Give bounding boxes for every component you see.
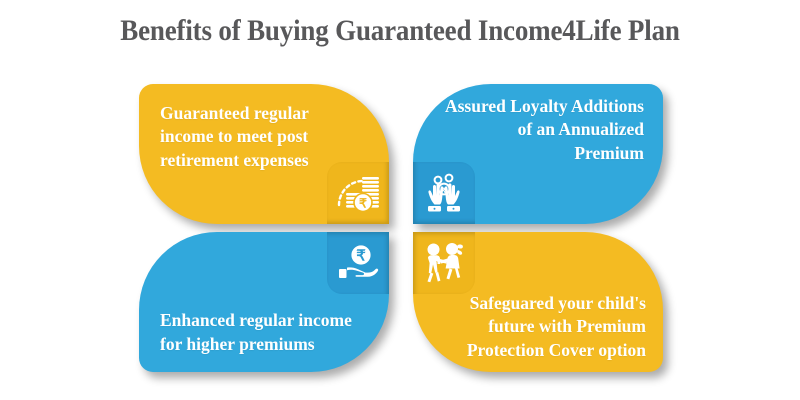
- benefit-card-safeguard-child-future[interactable]: Safeguared your child's future with Prem…: [413, 232, 663, 372]
- svg-text:₹: ₹: [356, 248, 366, 265]
- hand-holding-rupee-coin-icon: ₹: [327, 232, 389, 294]
- hands-holding-coins-icon: ₹: [413, 162, 475, 224]
- benefits-card-grid: Guaranteed regular income to meet post r…: [139, 84, 663, 372]
- card-text-guaranteed-regular-income: Guaranteed regular income to meet post r…: [160, 102, 355, 172]
- page-title: Benefits of Buying Guaranteed Income4Lif…: [40, 14, 760, 48]
- two-children-icon: [413, 232, 475, 294]
- benefit-card-assured-loyalty-additions[interactable]: Assured Loyalty Additions of an Annualiz…: [413, 84, 663, 224]
- coins-stack-rupee-icon: ₹: [327, 162, 389, 224]
- infographic-page: Benefits of Buying Guaranteed Income4Lif…: [0, 0, 800, 400]
- card-text-safeguard-child-future: Safeguared your child's future with Prem…: [441, 292, 646, 362]
- card-text-assured-loyalty-additions: Assured Loyalty Additions of an Annualiz…: [444, 95, 644, 165]
- card-text-enhanced-regular-income: Enhanced regular income for higher premi…: [160, 309, 365, 356]
- benefit-card-guaranteed-regular-income[interactable]: Guaranteed regular income to meet post r…: [139, 84, 389, 224]
- svg-text:₹: ₹: [359, 196, 367, 210]
- benefit-card-enhanced-regular-income[interactable]: Enhanced regular income for higher premi…: [139, 232, 389, 372]
